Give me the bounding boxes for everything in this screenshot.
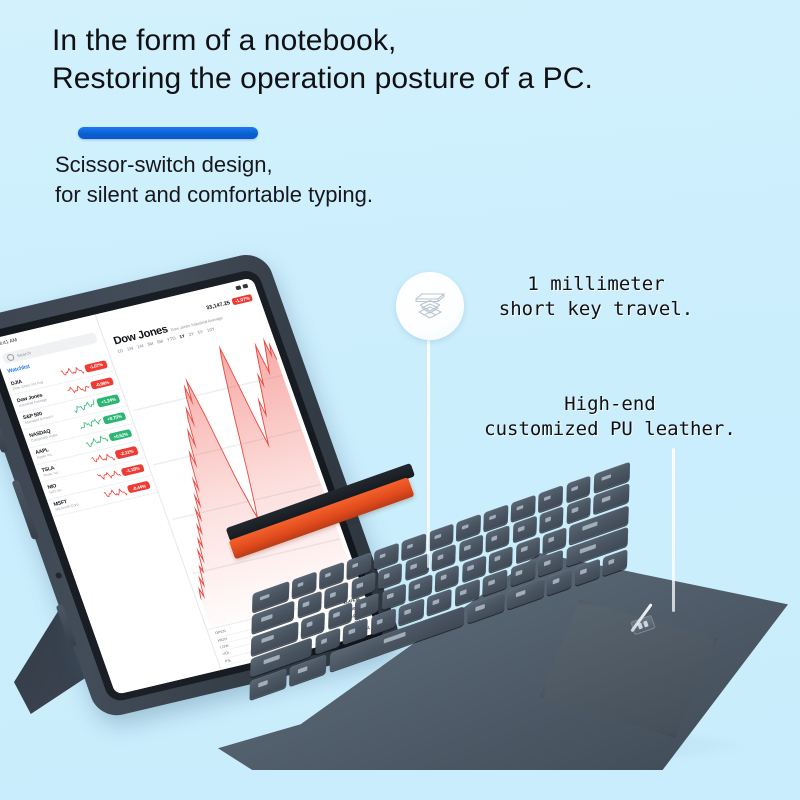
stock-change-badge: +0.52%	[109, 429, 133, 442]
stock-change-badge: -2.31%	[115, 446, 139, 459]
stock-change-badge: -0.98%	[90, 377, 114, 390]
stock-sparkline	[72, 399, 97, 414]
leader-line-pu-leather	[672, 448, 675, 612]
quote-label: HIGH	[217, 637, 228, 643]
quote-label: LOW	[220, 644, 230, 650]
callout-key-travel-line-1: 1 millimeter	[466, 272, 726, 297]
case-camera-hole	[55, 572, 63, 579]
callout-pu-leather: High-end customized PU leather.	[440, 392, 780, 442]
quote-label: P/E	[224, 658, 231, 663]
stock-sparkline	[60, 364, 85, 379]
callout-key-travel: 1 millimeter short key travel.	[466, 272, 726, 322]
wifi-icon	[235, 285, 241, 290]
callout-pu-leather-line-2: customized PU leather.	[440, 417, 780, 442]
stock-change-badge: -0.44%	[127, 481, 151, 494]
status-icons	[235, 283, 248, 290]
stock-sparkline	[66, 381, 91, 396]
search-placeholder: Search	[16, 350, 32, 358]
stock-sparkline	[78, 416, 103, 431]
stock-change-badge: -1.18%	[121, 464, 145, 477]
battery-icon	[242, 283, 248, 288]
leader-line-key-travel	[427, 336, 430, 568]
stock-sparkline	[85, 433, 110, 448]
scissor-switch-key-icon-badge	[396, 272, 464, 340]
scissor-switch-key-icon	[410, 288, 450, 324]
status-time: 9:41 AM	[0, 337, 18, 347]
search-icon	[6, 353, 15, 361]
marketing-banner: In the form of a notebook, Restoring the…	[0, 0, 800, 800]
stock-change-badge: +1.24%	[96, 394, 120, 407]
quote-label: VOL	[222, 651, 231, 657]
stock-sparkline	[103, 485, 128, 500]
case-button-power	[0, 419, 8, 453]
callout-pu-leather-line-1: High-end	[440, 392, 780, 417]
stock-change-badge: -1.07%	[84, 360, 108, 373]
callout-key-travel-line-2: short key travel.	[466, 297, 726, 322]
stock-sparkline	[91, 450, 116, 465]
stock-sparkline	[97, 468, 122, 483]
stock-change-badge: +0.75%	[102, 412, 126, 425]
